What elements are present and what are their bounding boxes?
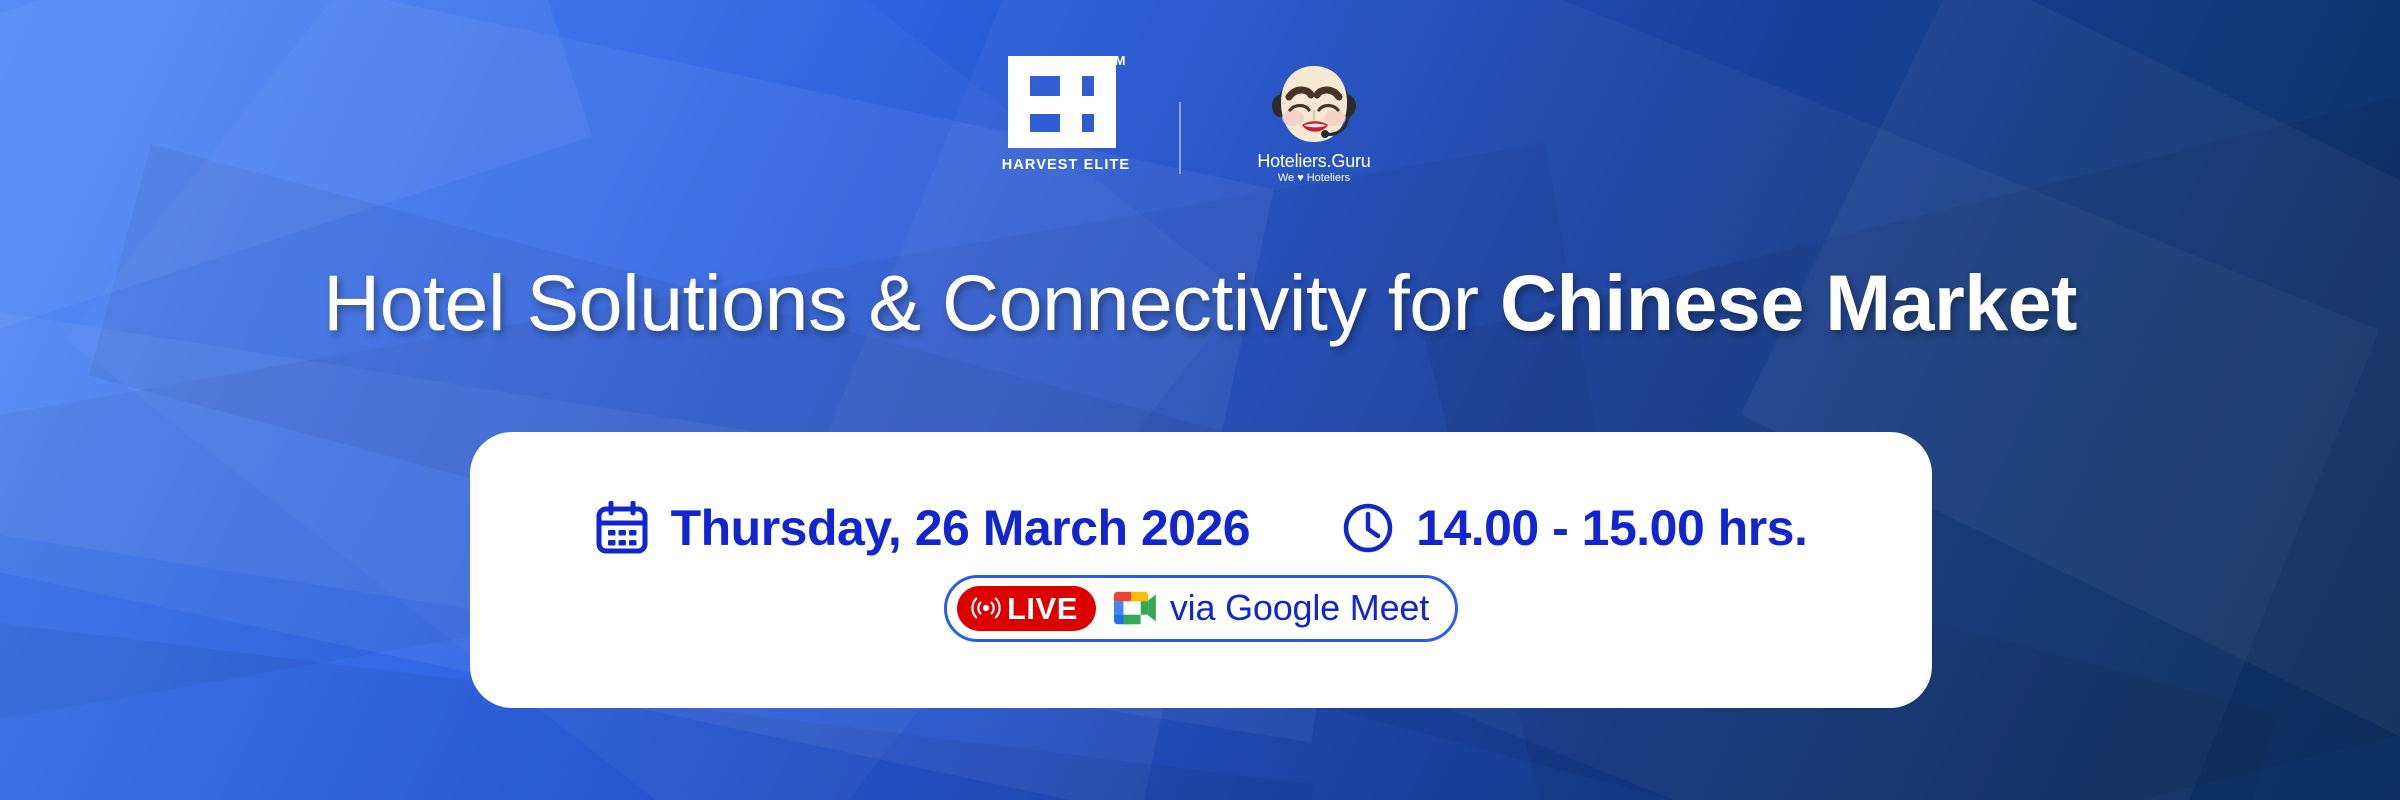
page-title: Hotel Solutions & Connectivity for Chine…	[0, 263, 2400, 342]
title-bold-part: Chinese Market	[1500, 258, 2077, 347]
hoteliers-guru-tagline: We ♥ Hoteliers	[1278, 171, 1350, 185]
join-meet-pill[interactable]: LIVE via Google Meet	[944, 575, 1458, 642]
event-date-text: Thursday, 26 March 2026	[671, 499, 1251, 557]
broadcast-icon	[971, 595, 1001, 621]
heart-icon: ♥	[1297, 171, 1304, 185]
harvest-elite-monogram-icon: TM	[1008, 56, 1124, 148]
google-meet-icon	[1110, 588, 1156, 628]
tagline-suffix: Hoteliers	[1307, 171, 1350, 185]
hoteliers-guru-wordmark: Hoteliers.Guru	[1257, 152, 1370, 171]
event-date: Thursday, 26 March 2026	[595, 499, 1251, 557]
trademark-symbol: TM	[1106, 54, 1126, 67]
live-label: LIVE	[1007, 593, 1078, 624]
harvest-elite-logo[interactable]: TM HARVEST ELITE	[991, 56, 1141, 173]
date-time-row: Thursday, 26 March 2026 14.00 - 15.00 hr…	[595, 499, 1808, 557]
hoteliers-guru-logo[interactable]: Hoteliers.Guru We ♥ Hoteliers	[1219, 56, 1409, 185]
calendar-icon	[595, 501, 649, 555]
event-time: 14.00 - 15.00 hrs.	[1342, 499, 1807, 557]
tagline-prefix: We	[1278, 171, 1294, 185]
harvest-elite-wordmark: HARVEST ELITE	[1002, 157, 1130, 173]
logo-divider	[1179, 102, 1181, 174]
logo-row: TM HARVEST ELITE	[0, 56, 2400, 185]
webinar-banner: TM HARVEST ELITE	[0, 0, 2400, 800]
live-badge: LIVE	[957, 586, 1096, 631]
meet-platform-label: via Google Meet	[1170, 587, 1429, 629]
event-time-text: 14.00 - 15.00 hrs.	[1416, 499, 1807, 557]
clock-icon	[1342, 502, 1394, 554]
mascot-face-icon	[1259, 56, 1369, 151]
event-details-card: Thursday, 26 March 2026 14.00 - 15.00 hr…	[470, 432, 1932, 708]
title-light-part: Hotel Solutions & Connectivity for	[323, 258, 1500, 347]
